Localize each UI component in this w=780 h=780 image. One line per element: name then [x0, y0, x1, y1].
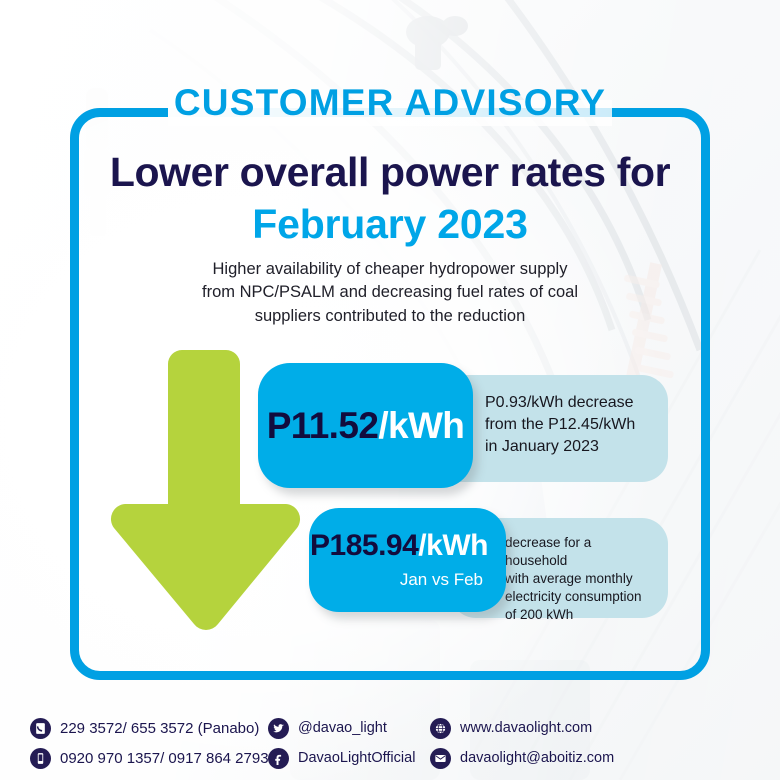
rate-note-2-line-3: electricity consumption [505, 588, 652, 606]
rate-card-2-value: P185.94/kWh [309, 529, 489, 563]
rate-card-2: P185.94/kWh Jan vs Feb [309, 508, 506, 612]
headline-line-1: Lower overall power rates for [90, 150, 690, 196]
rate-note-1-line-1: P0.93/kWh decrease [485, 392, 646, 414]
contact-website-text: www.davaolight.com [460, 720, 592, 736]
contact-landline-text: 229 3572/ 655 3572 (Panabo) [60, 720, 259, 737]
footer-column-web: www.davaolight.com davaolight@aboitiz.co… [430, 714, 614, 774]
rate-card-1: P11.52/kWh [258, 363, 473, 488]
rate-card-2-amount: P185.94 [310, 529, 418, 562]
contact-row-mobile[interactable]: 0920 970 1357/ 0917 864 2793 [30, 744, 269, 772]
rate-note-2-line-1: decrease for a household [505, 534, 652, 570]
contact-row-facebook[interactable]: DavaoLightOfficial [268, 744, 415, 772]
footer-column-phones: 229 3572/ 655 3572 (Panabo) 0920 970 135… [30, 714, 269, 774]
headline: Lower overall power rates for February 2… [90, 150, 690, 248]
rate-card-2-caption: Jan vs Feb [309, 570, 489, 590]
mobile-phone-icon [30, 748, 51, 769]
contact-row-website[interactable]: www.davaolight.com [430, 714, 614, 742]
rate-note-1-line-2: from the P12.45/kWh [485, 414, 646, 436]
rate-note-1-line-3: in January 2023 [485, 436, 646, 458]
subcopy-line-1: Higher availability of cheaper hydropowe… [110, 258, 670, 281]
subcopy-line-3: suppliers contributed to the reduction [110, 305, 670, 328]
contact-row-landline[interactable]: 229 3572/ 655 3572 (Panabo) [30, 714, 269, 742]
contact-twitter-text: @davao_light [298, 720, 387, 736]
headline-line-2: February 2023 [90, 200, 690, 248]
subcopy: Higher availability of cheaper hydropowe… [110, 258, 670, 328]
page-title: CUSTOMER ADVISORY [0, 82, 780, 124]
telephone-icon [30, 718, 51, 739]
contact-row-twitter[interactable]: @davao_light [268, 714, 415, 742]
rate-card-2-unit: /kWh [418, 529, 488, 562]
rate-card-1-value: P11.52/kWh [267, 405, 465, 447]
customer-advisory-poster: CUSTOMER ADVISORY Lower overall power ra… [0, 0, 780, 780]
facebook-icon [268, 748, 289, 769]
twitter-icon [268, 718, 289, 739]
email-icon [430, 748, 451, 769]
contact-mobile-text: 0920 970 1357/ 0917 864 2793 [60, 750, 269, 767]
globe-icon [430, 718, 451, 739]
contact-facebook-text: DavaoLightOfficial [298, 750, 415, 766]
contact-row-email[interactable]: davaolight@aboitiz.com [430, 744, 614, 772]
rate-card-1-unit: /kWh [378, 405, 464, 446]
contact-email-text: davaolight@aboitiz.com [460, 750, 614, 766]
rate-note-2-line-4: of 200 kWh [505, 606, 652, 624]
rate-card-1-amount: P11.52 [267, 405, 379, 446]
footer-contact-bar: 229 3572/ 655 3572 (Panabo) 0920 970 135… [0, 706, 780, 780]
subcopy-line-2: from NPC/PSALM and decreasing fuel rates… [110, 281, 670, 304]
footer-column-social: @davao_light DavaoLightOfficial [268, 714, 415, 774]
rate-note-2-line-2: with average monthly [505, 570, 652, 588]
